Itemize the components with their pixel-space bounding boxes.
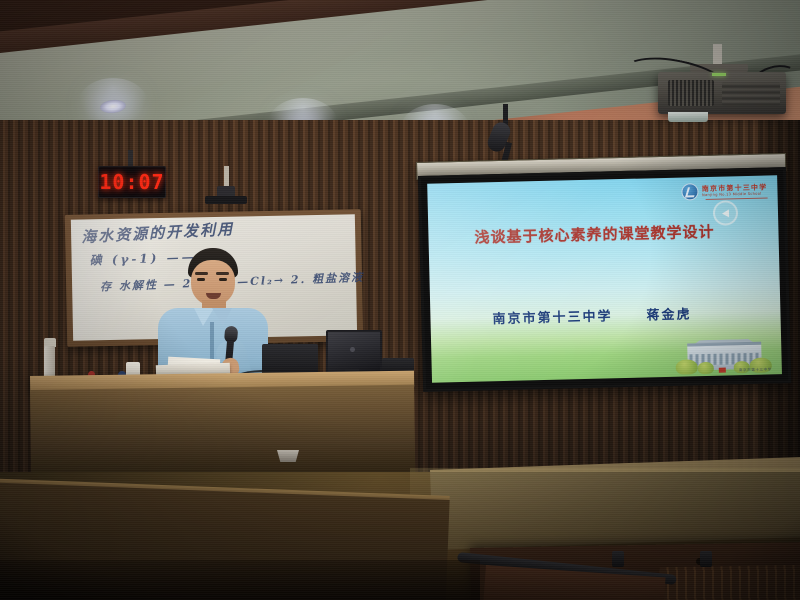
wall-digital-clock: 10:07	[98, 166, 166, 198]
monitor-screen	[326, 330, 382, 374]
presenter-eye	[219, 278, 227, 281]
projector-mount-pole	[713, 44, 722, 66]
school-logo-en: Nanjing No.13 Middle School	[702, 192, 768, 197]
wall-camera-icon	[205, 182, 247, 204]
building-photo-caption: 南京市第十三中学	[739, 367, 772, 373]
foreground-shadow	[0, 560, 480, 600]
projector-ports	[722, 82, 780, 106]
podium-emblem	[277, 450, 299, 462]
school-emblem-icon	[682, 183, 699, 200]
projector-lens	[668, 112, 708, 122]
presenter-brow	[216, 272, 229, 275]
foreground-bracket	[612, 551, 624, 567]
foreground-slat-panel	[660, 565, 800, 600]
slide-school-name: 南京市第十三中学	[492, 305, 612, 327]
building-entrance	[719, 368, 726, 373]
presenter-brow	[195, 272, 208, 275]
projector-vent	[668, 80, 714, 106]
projection-screen: 南京市第十三中学 Nanjing No.13 Middle School 浅谈基…	[418, 167, 791, 392]
logo-divider	[706, 197, 768, 200]
tree-icon	[698, 362, 714, 374]
lecture-hall-photo: 10:07 海水资源的开发利用 碘 (γ-1) —— I₂↑ 存 水解性 — 2…	[0, 0, 800, 600]
spray-bottle	[44, 346, 55, 379]
camera-base	[205, 196, 247, 204]
school-building-photo: 南京市第十三中学	[671, 332, 776, 375]
presenter-eye	[197, 278, 205, 281]
slide-presenter-name: 蒋金虎	[646, 303, 691, 323]
camera-post	[224, 166, 229, 186]
monitor-logo	[350, 347, 355, 352]
clock-time-display: 10:07	[99, 170, 164, 194]
projector-status-led	[712, 73, 726, 76]
presentation-slide: 南京市第十三中学 Nanjing No.13 Middle School 浅谈基…	[427, 175, 782, 382]
tree-icon	[676, 359, 698, 375]
podium-shading	[30, 385, 415, 482]
slide-presenter-line: 南京市第十三中学 蒋金虎	[492, 302, 762, 328]
slide-title: 浅谈基于核心素养的课堂教学设计	[474, 223, 722, 247]
foreground-bracket	[700, 551, 712, 567]
